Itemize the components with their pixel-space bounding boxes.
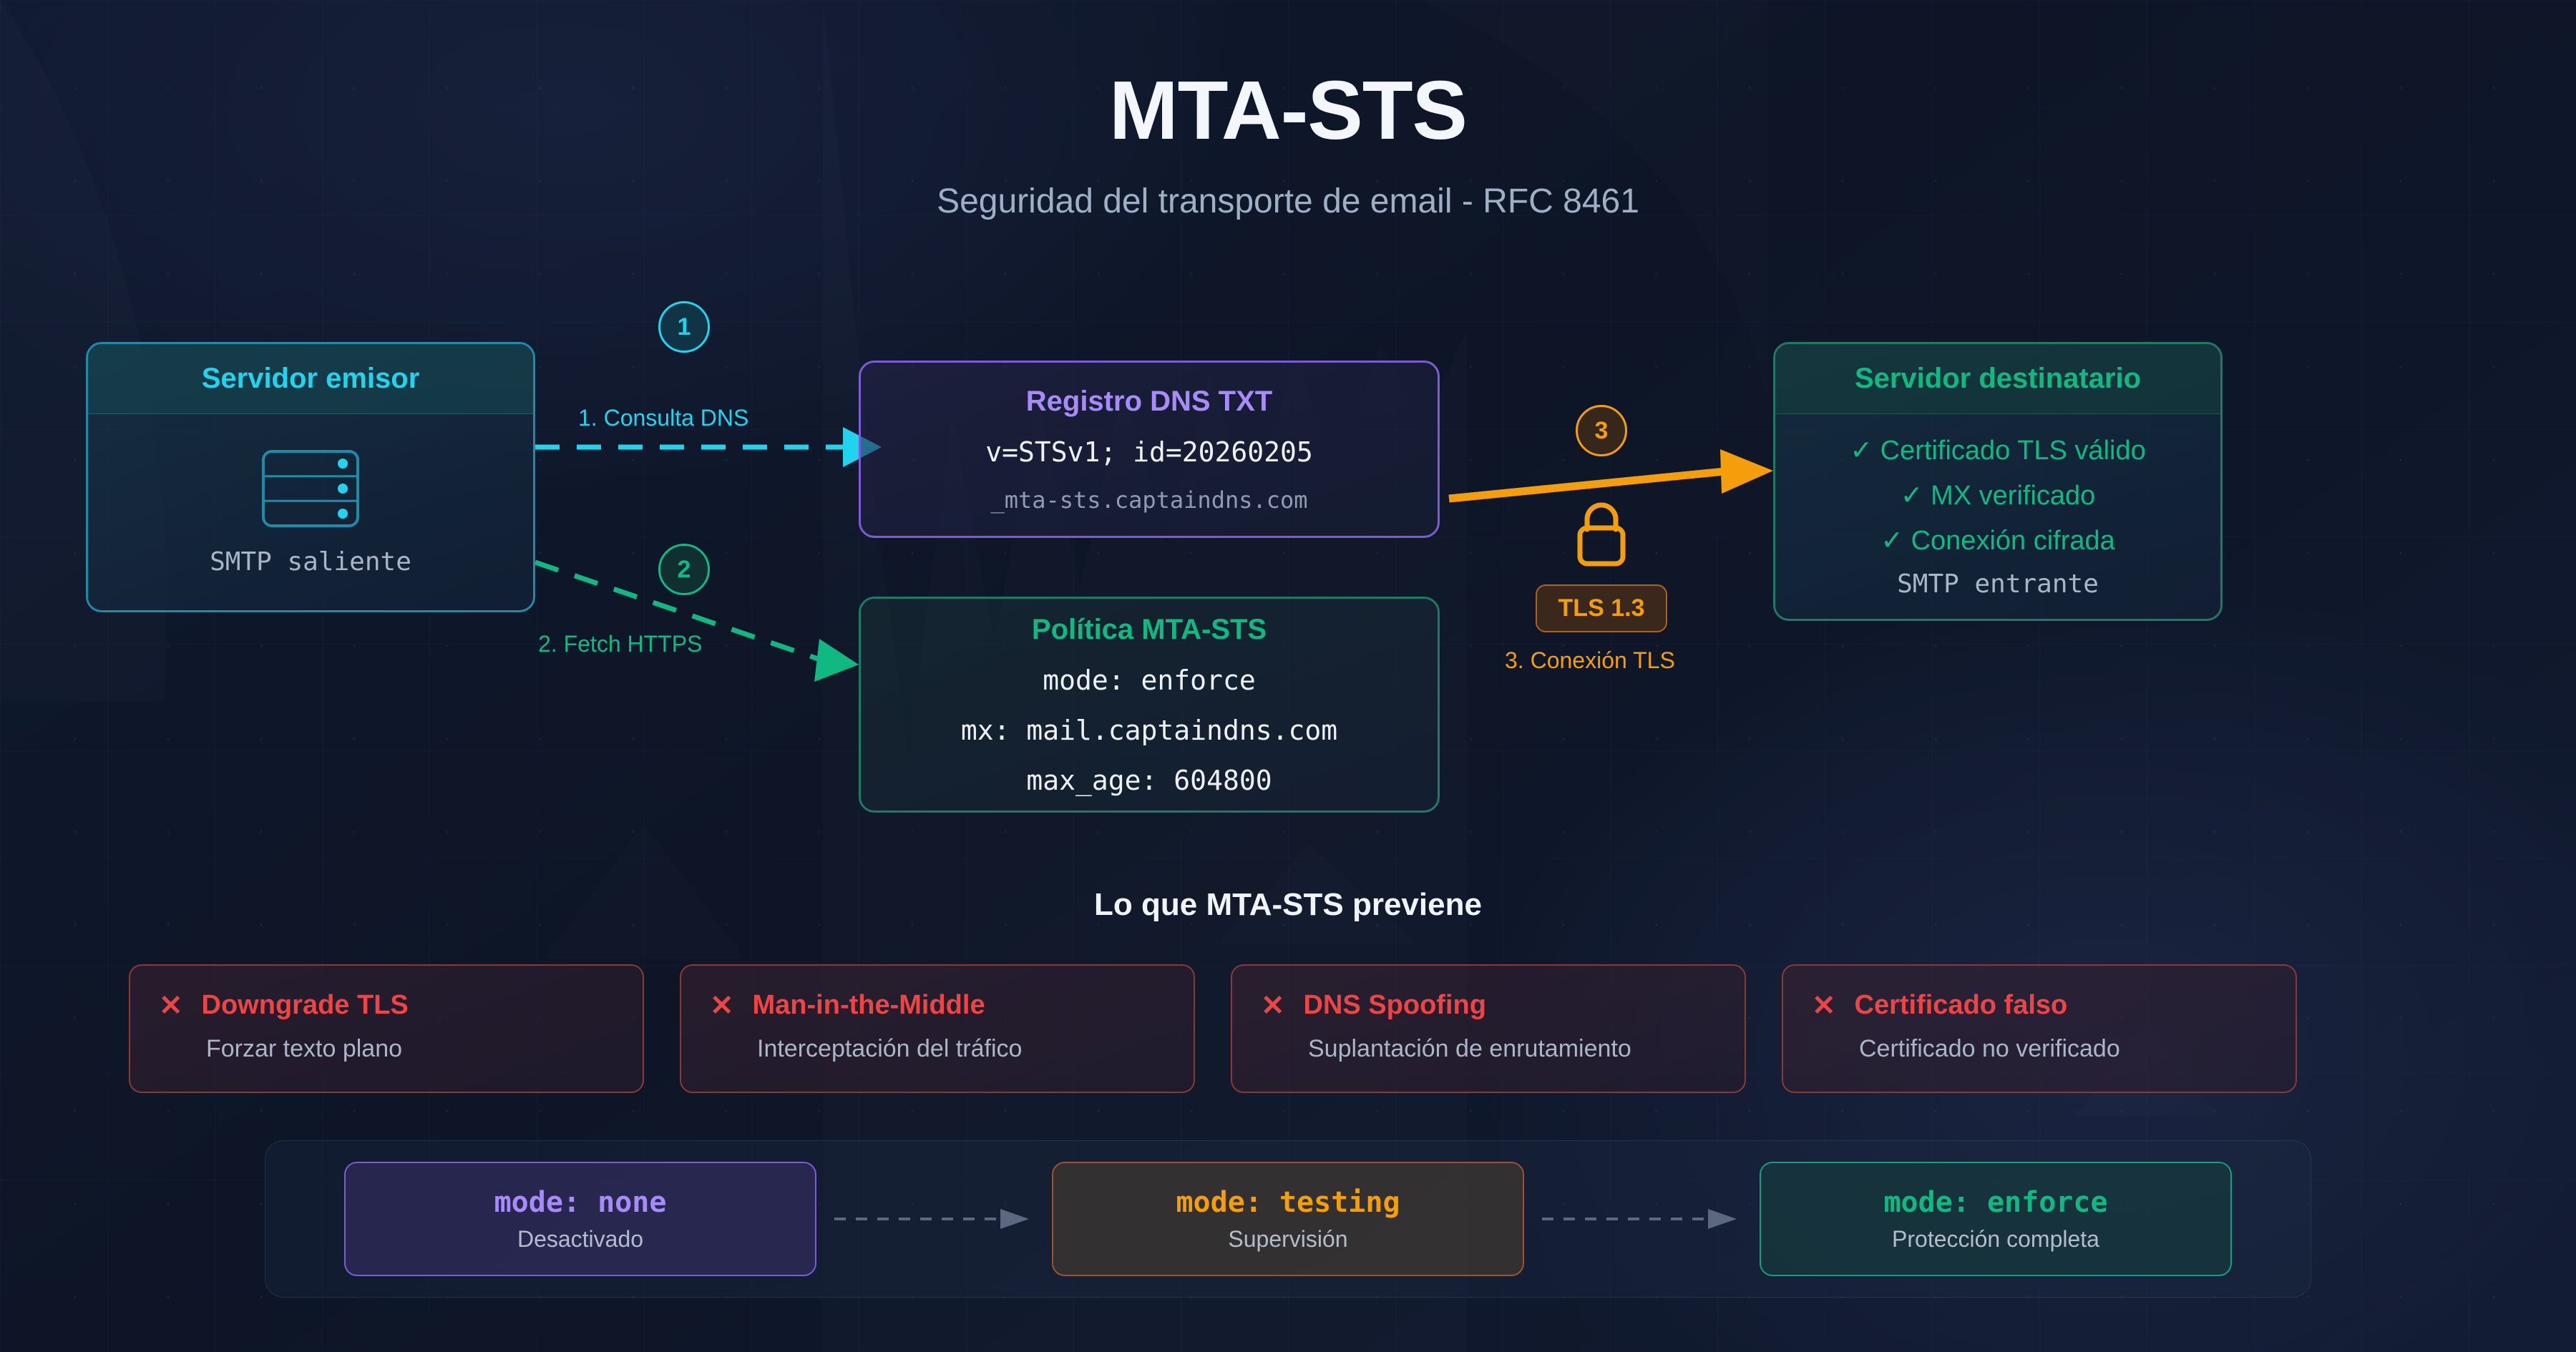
prevention-card-subtitle: Interceptación del tráfico — [757, 1035, 1165, 1063]
mode-card-label: Desactivado — [517, 1226, 643, 1253]
step-label-2: 2. Fetch HTTPS — [538, 631, 702, 657]
step-label-1: 1. Consulta DNS — [578, 405, 748, 431]
dns-record-hostname: _mta-sts.captaindns.com — [990, 486, 1307, 514]
step-badge-2-number: 2 — [678, 556, 691, 584]
prevention-card-fake-certificate: ✕ Certificado falso Certificado no verif… — [1782, 964, 2297, 1093]
step-badge-1-number: 1 — [678, 313, 691, 341]
recipient-check-mx: ✓ MX verificado — [1901, 479, 2096, 511]
step-badge-3-number: 3 — [1595, 417, 1609, 445]
x-icon: ✕ — [1812, 991, 1836, 1020]
lock-icon — [1568, 495, 1634, 573]
sender-server-card: Servidor emisor SMTP saliente — [86, 342, 535, 612]
recipient-check-certificate: ✓ Certificado TLS válido — [1850, 434, 2145, 466]
dns-record-title: Registro DNS TXT — [1026, 386, 1272, 418]
mode-connector-2 — [1524, 1205, 1760, 1233]
recipient-server-card: Servidor destinatario ✓ Certificado TLS … — [1773, 342, 2223, 621]
step-badge-3: 3 — [1576, 405, 1627, 456]
tls-indicator: TLS 1.3 — [1523, 495, 1680, 632]
prevention-card-subtitle: Suplantación de enrutamiento — [1308, 1035, 1716, 1063]
prevention-card-subtitle: Certificado no verificado — [1859, 1035, 2267, 1063]
recipient-server-title: Servidor destinatario — [1775, 344, 2220, 414]
x-icon: ✕ — [710, 991, 734, 1020]
mode-card-enforce: mode: enforce Protección completa — [1760, 1162, 2232, 1276]
step-label-3: 3. Conexión TLS — [1505, 647, 1675, 674]
prevention-card-title: Certificado falso — [1855, 990, 2068, 1021]
mode-connector-1 — [816, 1205, 1052, 1233]
x-icon: ✕ — [159, 991, 183, 1020]
policy-line-max-age: max_age: 604800 — [1026, 765, 1272, 796]
prevention-card-list: ✕ Downgrade TLS Forzar texto plano ✕ Man… — [129, 964, 2297, 1093]
prevention-card-title: DNS Spoofing — [1304, 990, 1486, 1021]
mode-progression: mode: none Desactivado mode: testing Sup… — [265, 1140, 2311, 1298]
header: MTA-STS Seguridad del transporte de emai… — [0, 69, 2576, 221]
mode-card-none: mode: none Desactivado — [344, 1162, 816, 1276]
mode-card-code: mode: testing — [1176, 1186, 1400, 1219]
policy-line-mode: mode: enforce — [1043, 665, 1255, 696]
prevention-card-title: Man-in-the-Middle — [753, 990, 985, 1021]
prevention-section-title: Lo que MTA-STS previene — [0, 887, 2576, 923]
prevention-card-downgrade-tls: ✕ Downgrade TLS Forzar texto plano — [129, 964, 644, 1093]
prevention-card-title: Downgrade TLS — [202, 990, 409, 1021]
tls-version-badge: TLS 1.3 — [1536, 584, 1668, 632]
mta-sts-policy-card: Política MTA-STS mode: enforce mx: mail.… — [859, 597, 1440, 813]
prevention-card-man-in-the-middle: ✕ Man-in-the-Middle Interceptación del t… — [680, 964, 1195, 1093]
prevention-card-subtitle: Forzar texto plano — [206, 1035, 614, 1063]
prevention-card-dns-spoofing: ✕ DNS Spoofing Suplantación de enrutamie… — [1231, 964, 1746, 1093]
mode-card-code: mode: none — [494, 1186, 667, 1219]
dns-record-value: v=STSv1; id=20260205 — [985, 436, 1313, 468]
step-badge-1: 1 — [658, 301, 710, 353]
recipient-server-caption: SMTP entrante — [1897, 569, 2099, 599]
infographic-canvas: MTA-STS Seguridad del transporte de emai… — [0, 0, 2576, 1352]
sender-server-title: Servidor emisor — [88, 344, 533, 414]
policy-line-mx: mx: mail.captaindns.com — [961, 715, 1337, 746]
page-subtitle: Seguridad del transporte de email - RFC … — [0, 182, 2576, 221]
recipient-check-encryption: ✓ Conexión cifrada — [1880, 524, 2115, 557]
step-badge-2: 2 — [658, 544, 710, 595]
x-icon: ✕ — [1261, 991, 1285, 1020]
mode-card-code: mode: enforce — [1883, 1186, 2107, 1219]
mode-card-testing: mode: testing Supervisión — [1052, 1162, 1524, 1276]
server-rack-icon — [260, 449, 361, 529]
mode-card-label: Protección completa — [1892, 1226, 2099, 1253]
mode-card-label: Supervisión — [1228, 1226, 1347, 1253]
policy-title: Política MTA-STS — [1032, 614, 1267, 646]
sender-server-caption: SMTP saliente — [210, 547, 411, 577]
page-title: MTA-STS — [0, 69, 2576, 152]
dns-txt-record-card: Registro DNS TXT v=STSv1; id=20260205 _m… — [859, 361, 1440, 538]
